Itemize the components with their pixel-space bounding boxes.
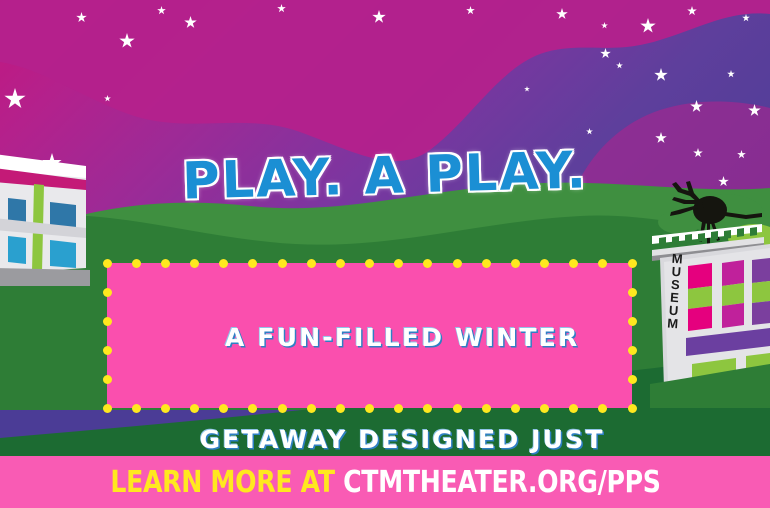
marquee-bulb <box>628 259 637 268</box>
marquee-bulb <box>190 259 199 268</box>
marquee-bulb <box>482 259 491 268</box>
marquee-bulb <box>219 259 228 268</box>
marquee-bulb <box>453 259 462 268</box>
headline-line-1: PLAY. A PLAY. <box>0 139 770 213</box>
marquee-line-1: A FUN-FILLED WINTER <box>225 323 579 352</box>
marquee-bulb <box>278 259 287 268</box>
marquee-line-2: GETAWAY DESIGNED JUST <box>200 425 605 454</box>
marquee-bulb <box>103 259 112 268</box>
footer-url[interactable]: CTMTHEATER.ORG/PPS <box>343 465 660 500</box>
marquee-bulb <box>336 259 345 268</box>
marquee-bulb <box>423 259 432 268</box>
marquee-bulb <box>511 259 520 268</box>
footer-lead-label: LEARN MORE AT <box>110 465 343 500</box>
marquee-bulb <box>365 259 374 268</box>
marquee-bulb <box>307 259 316 268</box>
marquee-bulb <box>569 259 578 268</box>
marquee-bulb <box>132 259 141 268</box>
promo-poster: MUSEUM PLAY. A PLAY. AND A STAY! PACKAGE… <box>0 0 770 508</box>
marquee-bulb <box>598 259 607 268</box>
footer-bar: LEARN MORE AT CTMTHEATER.ORG/PPS <box>0 456 770 508</box>
marquee-bulb <box>161 259 170 268</box>
marquee-bulb <box>248 259 257 268</box>
marquee-bulb <box>394 259 403 268</box>
marquee-bulb <box>540 259 549 268</box>
marquee-callout-box: A FUN-FILLED WINTER GETAWAY DESIGNED JUS… <box>107 263 632 408</box>
footer-text: LEARN MORE AT CTMTHEATER.ORG/PPS <box>110 465 660 500</box>
